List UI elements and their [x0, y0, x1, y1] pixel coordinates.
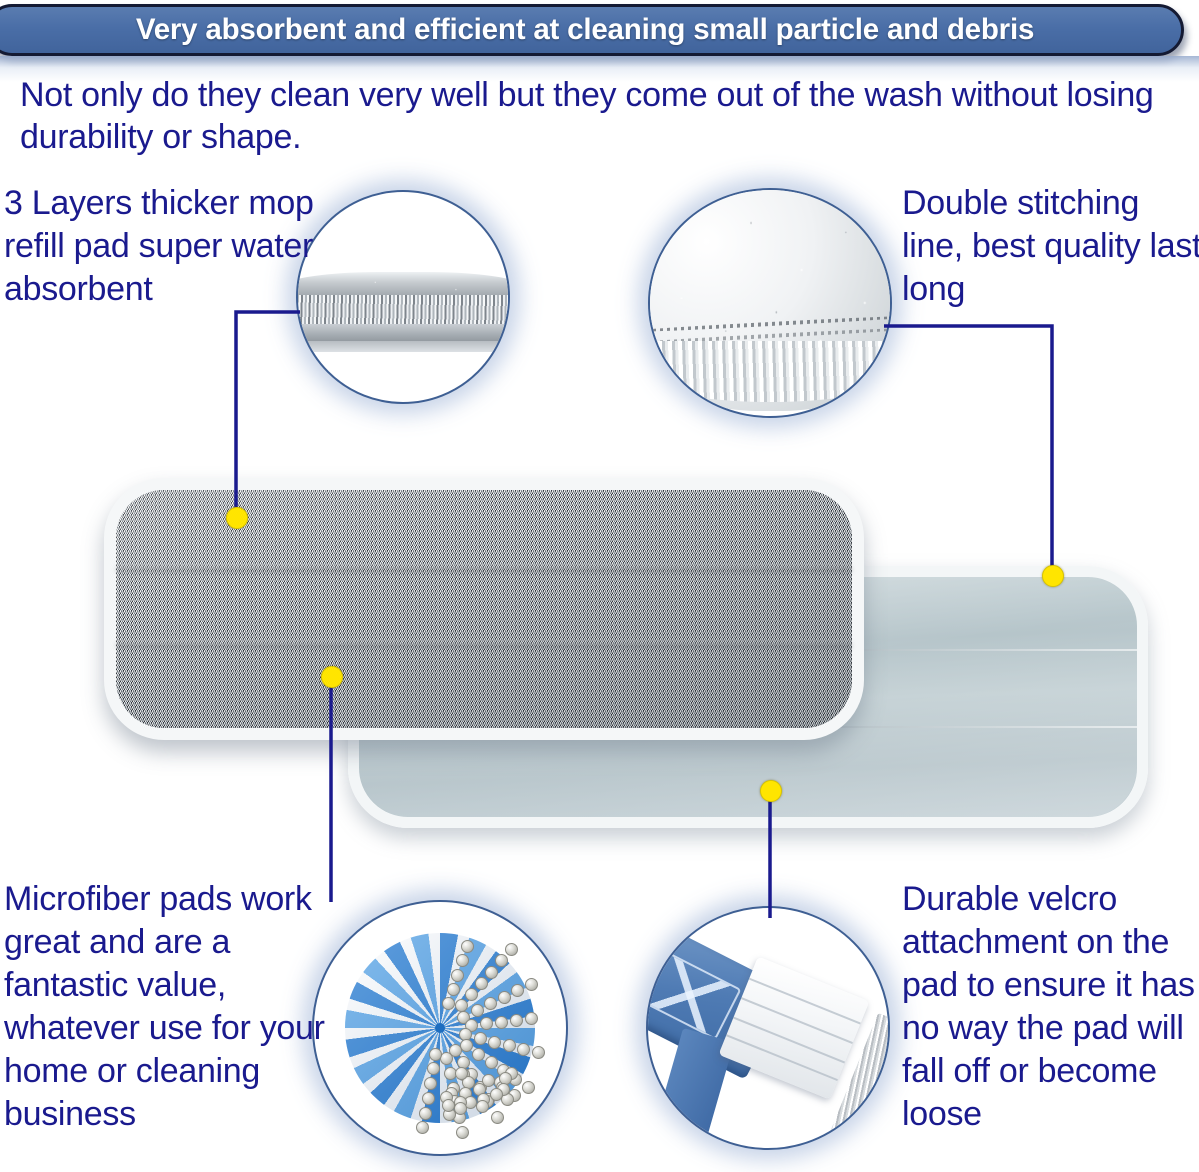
dirt-particle — [525, 1012, 538, 1025]
header-banner: Very absorbent and efficient at cleaning… — [0, 4, 1184, 56]
subtitle-text: Not only do they clean very well but the… — [20, 74, 1170, 158]
dirt-particle — [427, 1062, 440, 1075]
infographic-root: Very absorbent and efficient at cleaning… — [0, 0, 1199, 1172]
dirt-particle — [505, 943, 518, 956]
dirt-particle — [485, 1056, 498, 1069]
dirt-particle — [495, 1016, 508, 1029]
dirt-particle — [532, 1046, 545, 1059]
dirt-particle — [451, 969, 464, 982]
dirt-particle — [495, 954, 508, 967]
dirt-particle-beads — [314, 902, 566, 1154]
dirt-particle — [503, 1039, 516, 1052]
dirt-particle — [472, 1048, 485, 1061]
velcro-rib-3 — [733, 1017, 845, 1063]
dirt-particle — [442, 997, 455, 1010]
dirt-particle — [511, 984, 524, 997]
mop-head-window — [646, 950, 741, 1040]
dirt-particle — [484, 997, 497, 1010]
cross-section-texture-speckle — [296, 270, 510, 327]
dirt-particle — [474, 1032, 487, 1045]
callout-text-bottom-right: Durable velcro attachment on the pad to … — [902, 878, 1199, 1136]
dirt-particle — [475, 977, 488, 990]
dirt-particle — [510, 1014, 523, 1027]
mop-head-cross-brace-icon — [646, 953, 739, 1038]
dirt-particle — [480, 1017, 493, 1030]
dirt-particle — [517, 1043, 530, 1056]
dirt-particle — [488, 1036, 501, 1049]
fluffy-pad-body — [648, 188, 892, 411]
dirt-particle — [424, 1077, 437, 1090]
dirt-particle — [416, 1121, 429, 1134]
banner-headline: Very absorbent and efficient at cleaning… — [136, 13, 1034, 47]
dirt-particle — [485, 966, 498, 979]
dirt-particle — [525, 978, 538, 991]
velcro-rib-2 — [741, 998, 853, 1044]
dirt-particle — [422, 1092, 435, 1105]
callout-text-top-right: Double stitching line, best quality last… — [902, 182, 1199, 311]
dirt-particle — [455, 999, 468, 1012]
dirt-particle — [476, 1100, 489, 1113]
dirt-particle — [461, 940, 474, 953]
callout-dot-bottom-right — [760, 780, 782, 802]
callout-dot-top-right — [1042, 565, 1064, 587]
gray-microfiber-mop-pad — [104, 478, 864, 740]
dirt-particle — [419, 1107, 432, 1120]
dirt-particle — [456, 954, 469, 967]
dirt-particle — [522, 1081, 535, 1094]
inset-velcro-attachment — [646, 906, 890, 1150]
inset-pad-cross-section — [296, 190, 510, 404]
inset-double-stitching — [648, 188, 892, 418]
pad-bound-rim — [648, 341, 892, 402]
dirt-particle — [440, 1052, 453, 1065]
dirt-particle — [460, 1039, 473, 1052]
dirt-particle — [471, 1004, 484, 1017]
inset-microfiber-diagram — [312, 900, 568, 1156]
dirt-particle — [447, 983, 460, 996]
callout-text-top-left: 3 Layers thicker mop refill pad super wa… — [4, 182, 314, 311]
dirt-particle — [454, 1102, 467, 1115]
velcro-rib-1 — [749, 978, 861, 1024]
dirt-particle — [442, 1099, 455, 1112]
dirt-particle — [456, 1126, 469, 1139]
dirt-particle — [455, 1067, 468, 1080]
dirt-particle — [482, 1074, 495, 1087]
dark-pad-shading — [116, 490, 852, 728]
cross-section-backing-layer — [296, 341, 510, 352]
callout-text-bottom-left: Microfiber pads work great and are a fan… — [4, 878, 349, 1136]
callout-dot-bottom-left — [321, 666, 343, 688]
dirt-particle — [465, 988, 478, 1001]
callout-dot-top-left — [226, 507, 248, 529]
dirt-particle — [498, 991, 511, 1004]
dirt-particle — [491, 1111, 504, 1124]
